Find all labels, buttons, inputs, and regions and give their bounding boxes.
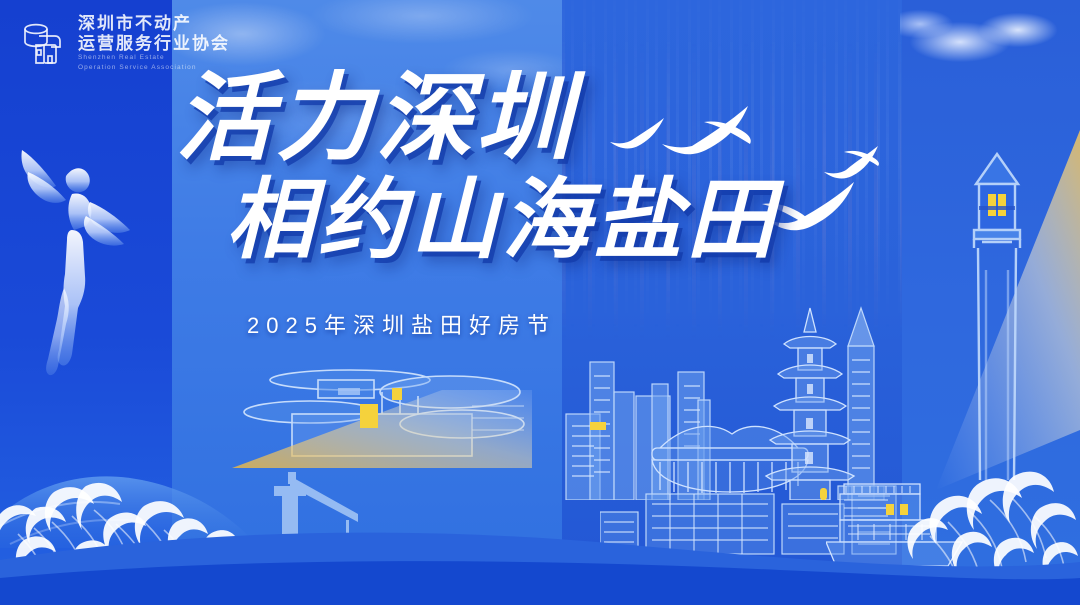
pagoda-icon <box>766 308 854 500</box>
lighthouse-icon <box>952 150 1042 480</box>
event-subtitle: 2025年深圳盐田好房节 <box>247 308 556 340</box>
sea-band-lower <box>0 556 1080 605</box>
poster-canvas: 深圳市不动产 运营服务行业协会 Shenzhen Real Estate Ope… <box>0 0 1080 605</box>
building-lit-window <box>360 404 378 428</box>
headline-line-1: 活力深圳 <box>0 70 780 168</box>
city-skyline-group <box>552 300 912 500</box>
headline-block: 活力深圳 相约山海盐田 <box>0 70 780 267</box>
ship-lit-window <box>886 504 894 515</box>
logo-cn-line2: 运营服务行业协会 <box>78 34 230 53</box>
headline-line-2: 相约山海盐田 <box>0 172 780 267</box>
logo-cn-line1: 深圳市不动产 <box>78 14 230 33</box>
association-logo-mark-icon <box>22 18 68 68</box>
tower-lit-window <box>590 422 606 430</box>
